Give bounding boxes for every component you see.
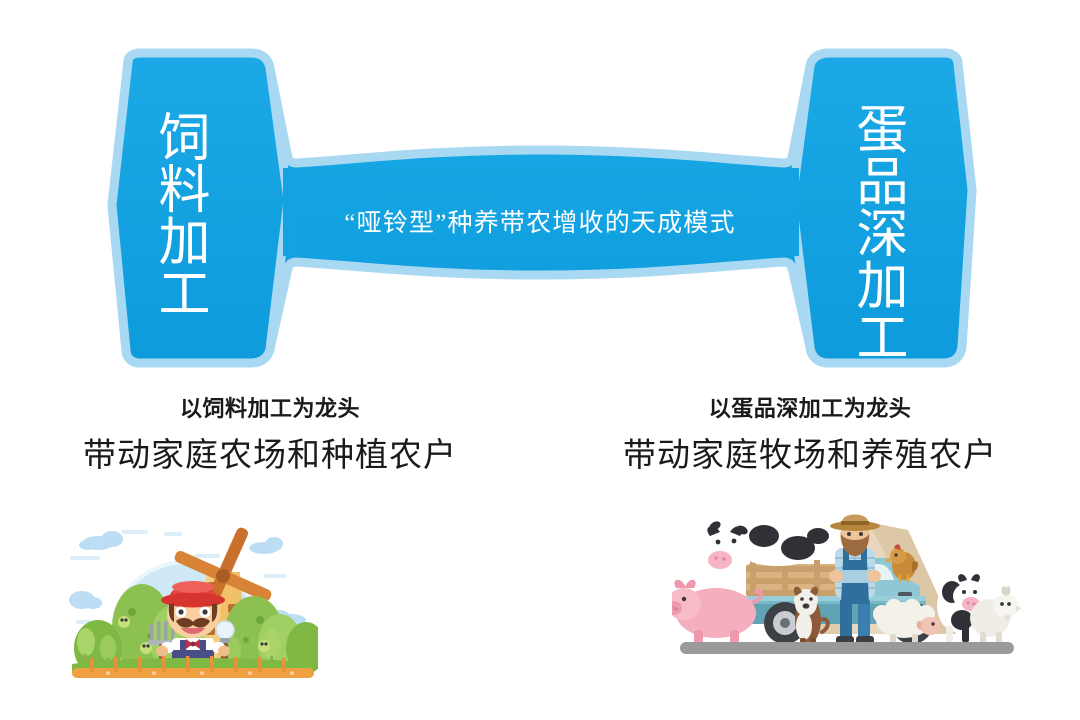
connector-bar-label: “哑铃型”种养带农增收的天成模式 [0, 203, 1080, 239]
farmer-windmill-illustration [68, 508, 318, 678]
right-column: 以蛋品深加工为龙头 带动家庭牧场和养殖农户 [540, 396, 1080, 478]
right-caption-heading: 以蛋品深加工为龙头 [540, 396, 1080, 422]
slide-canvas: 饲料加工 蛋品深加工 “哑铃型”种养带农增收的天成模式 以饲料加工为龙头 带动家… [0, 0, 1080, 720]
ground-bar [680, 642, 1014, 654]
farmer-livestock-truck-illustration [672, 508, 1022, 668]
left-caption-subheading: 带动家庭农场和种植农户 [0, 436, 540, 477]
cow-icon [706, 520, 829, 569]
dumbbell-diagram: 饲料加工 蛋品深加工 “哑铃型”种养带农增收的天成模式 [0, 0, 1080, 400]
left-column: 以饲料加工为龙头 带动家庭农场和种植农户 [0, 396, 540, 478]
right-caption-subheading: 带动家庭牧场和养殖农户 [540, 436, 1080, 477]
left-caption-heading: 以饲料加工为龙头 [0, 396, 540, 422]
